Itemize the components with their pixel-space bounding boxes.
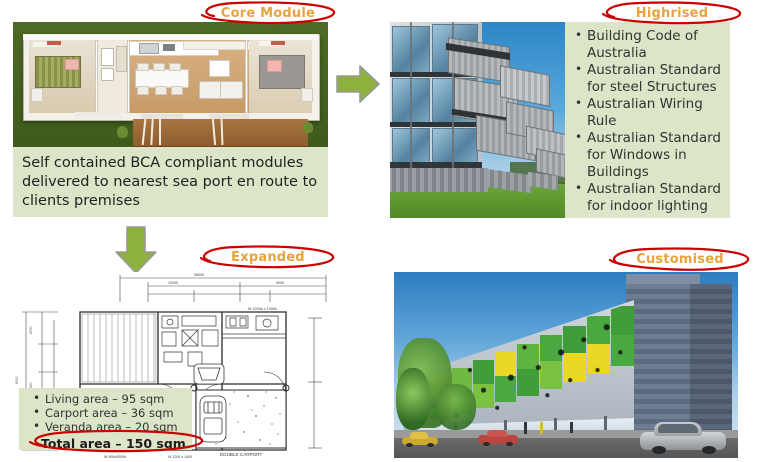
expanded-areas-panel: Living area – 95 sqm Carport area – 36 s… bbox=[19, 388, 192, 450]
callout-label: Highrised bbox=[636, 6, 708, 21]
svg-text:36000: 36000 bbox=[194, 273, 204, 277]
areas-list: Living area – 95 sqm Carport area – 36 s… bbox=[19, 388, 192, 434]
svg-text:2700: 2700 bbox=[29, 326, 33, 334]
list-item: Living area – 95 sqm bbox=[31, 392, 186, 406]
arrow-down-icon bbox=[112, 224, 160, 276]
highrised-image bbox=[390, 22, 565, 218]
standards-list: Building Code of Australia Australian St… bbox=[565, 22, 730, 215]
callout-highrised: Highrised bbox=[598, 1, 746, 25]
arrow-right-icon bbox=[334, 62, 382, 106]
list-item: Australian Standard for steel Structures bbox=[573, 62, 722, 96]
list-item: Australian Standard for Windows in Build… bbox=[573, 130, 722, 181]
callout-label: Customised bbox=[636, 252, 724, 267]
total-area-text: Total area – 150 sqm bbox=[19, 436, 192, 451]
list-item: Building Code of Australia bbox=[573, 28, 722, 62]
carport-label: DOUBLE CARPORT bbox=[220, 452, 263, 457]
customised-image bbox=[394, 272, 738, 458]
list-item: Carport area – 36 sqm bbox=[31, 406, 186, 420]
callout-customised: Customised bbox=[605, 246, 755, 272]
svg-text:9000: 9000 bbox=[276, 281, 284, 285]
core-module-caption-box: Self contained BCA compliant modules del… bbox=[13, 147, 328, 217]
list-item: Veranda area – 20 sqm bbox=[31, 420, 186, 434]
callout-label: Core Module bbox=[221, 6, 315, 21]
core-module-caption-text: Self contained BCA compliant modules del… bbox=[13, 147, 328, 211]
svg-text:W 900x2000h: W 900x2000h bbox=[104, 455, 126, 459]
core-module-image bbox=[13, 22, 328, 147]
svg-text:W 1200 x 1400: W 1200 x 1400 bbox=[168, 455, 192, 459]
callout-core-module: Core Module bbox=[196, 1, 340, 25]
svg-text:W 1200w x 1400h: W 1200w x 1400h bbox=[248, 307, 277, 311]
list-item: Australian Standard for indoor lighting bbox=[573, 181, 722, 215]
list-item: Australian Wiring Rule bbox=[573, 96, 722, 130]
callout-expanded: Expanded bbox=[196, 244, 340, 270]
callout-label: Expanded bbox=[231, 250, 305, 265]
car-red bbox=[478, 430, 518, 446]
svg-text:10200: 10200 bbox=[168, 281, 178, 285]
highrised-standards-panel: Building Code of Australia Australian St… bbox=[565, 22, 730, 218]
car-silver bbox=[640, 420, 726, 454]
car-yellow bbox=[402, 432, 438, 447]
svg-text:9000: 9000 bbox=[15, 376, 19, 384]
